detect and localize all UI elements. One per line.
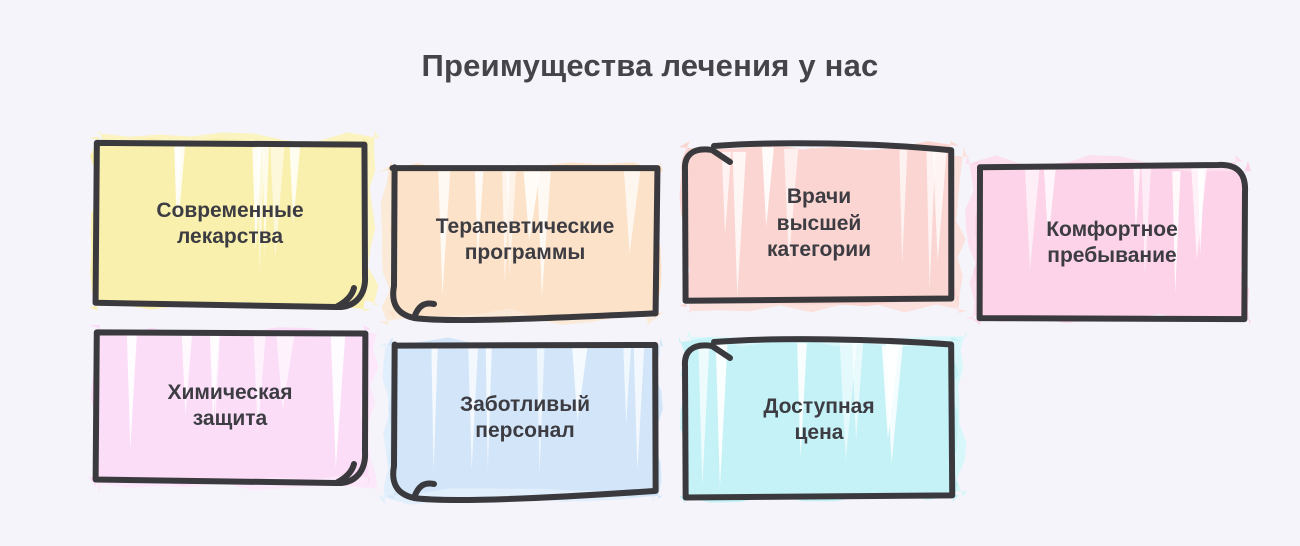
page-title: Преимущества лечения у нас (0, 48, 1300, 84)
benefit-card-affordable-price[interactable]: Доступная цена (686, 344, 952, 496)
card-fill (89, 137, 371, 311)
card-shape (394, 344, 656, 492)
benefit-card-top-category-doctors[interactable]: Врачи высшей категории (686, 148, 952, 300)
card-shape (980, 168, 1244, 318)
card-fill (973, 161, 1251, 325)
card-shape (96, 332, 364, 480)
benefit-card-caring-staff[interactable]: Заботливый персонал (394, 344, 656, 492)
benefit-card-therapeutic-programs[interactable]: Терапевтические программы (394, 168, 656, 312)
card-shape (686, 148, 952, 300)
benefit-card-chemical-protection[interactable]: Химическая защита (96, 332, 364, 480)
card-fill (679, 141, 959, 307)
card-shape (686, 344, 952, 496)
benefit-card-modern-medicines[interactable]: Современные лекарства (96, 144, 364, 304)
benefit-card-comfortable-stay[interactable]: Комфортное пребывание (980, 168, 1244, 318)
card-shape (394, 168, 656, 312)
card-shape (96, 144, 364, 304)
benefits-infographic: Преимущества лечения у нас Современные л… (0, 0, 1300, 546)
card-fill (387, 337, 663, 499)
